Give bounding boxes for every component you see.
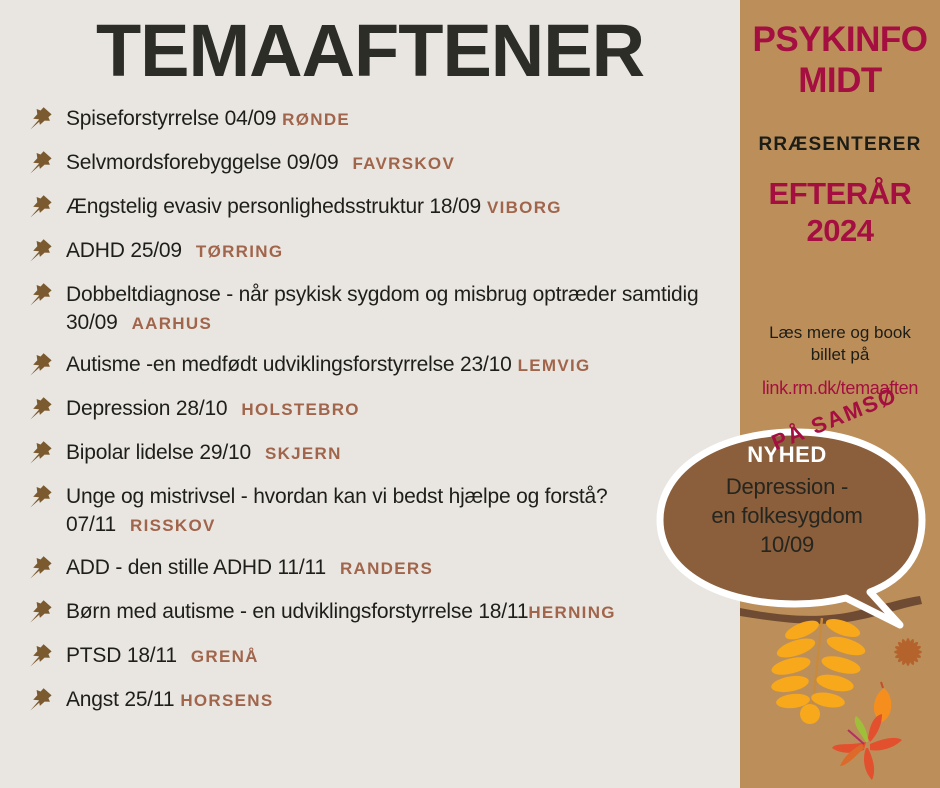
bubble-line-1: Depression - (672, 472, 902, 501)
event-title: Depression 28/10 (66, 397, 227, 420)
event-title: Ængstelig evasiv personlighedsstruktur 1… (66, 195, 481, 218)
event-row[interactable]: ADHD 25/09TØRRING (0, 237, 760, 267)
pushpin-icon (28, 686, 54, 712)
event-city: GRENÅ (191, 647, 259, 666)
event-row[interactable]: Ængstelig evasiv personlighedsstruktur 1… (0, 193, 760, 223)
pushpin-icon (28, 149, 54, 175)
event-row[interactable]: Autisme -en medfødt udviklingsforstyrrel… (0, 351, 760, 381)
event-city: HERNING (528, 603, 616, 622)
bubble-line-2: en folkesygdom (672, 501, 902, 530)
event-city: FAVRSKOV (352, 154, 455, 173)
event-title: Selvmordsforebyggelse 09/09 (66, 151, 338, 174)
event-title: Angst 25/11 (66, 688, 174, 711)
event-city: VIBORG (487, 198, 562, 217)
event-row[interactable]: ADD - den stille ADHD 11/11RANDERS (0, 554, 760, 584)
season-line-1: EFTERÅR (740, 178, 940, 211)
booking-info: Læs mere og book billet på (744, 322, 936, 367)
pushpin-icon (28, 237, 54, 263)
page-title: TEMAAFTENER (0, 8, 740, 93)
event-city: HOLSTEBRO (241, 400, 359, 419)
event-title: Bipolar lidelse 29/10 (66, 441, 251, 464)
event-city: RØNDE (282, 110, 350, 129)
pushpin-icon (28, 351, 54, 377)
pushpin-icon (28, 642, 54, 668)
star-anise-icon (894, 638, 922, 666)
event-city: RANDERS (340, 559, 433, 578)
event-city: SKJERN (265, 444, 342, 463)
pushpin-icon (28, 281, 54, 307)
event-row[interactable]: Angst 25/11HORSENS (0, 686, 760, 716)
pushpin-icon (28, 598, 54, 624)
event-title: Autisme -en medfødt udviklingsforstyrrel… (66, 353, 512, 376)
event-row[interactable]: Unge og mistrivsel - hvordan kan vi beds… (0, 483, 760, 539)
pushpin-icon (28, 395, 54, 421)
event-title: PTSD 18/11 (66, 644, 177, 667)
pushpin-icon (28, 483, 54, 509)
event-title: ADD - den stille ADHD 11/11 (66, 556, 326, 579)
pushpin-icon (28, 105, 54, 131)
brand-line-1: PSYKINFO (740, 22, 940, 59)
event-row[interactable]: Selvmordsforebyggelse 09/09FAVRSKOV (0, 149, 760, 179)
news-speech-bubble: NYHED Depression - en folkesygdom 10/09 (650, 420, 940, 640)
bubble-line-3: 10/09 (672, 530, 902, 559)
pushpin-icon (28, 554, 54, 580)
pushpin-icon (28, 439, 54, 465)
event-row[interactable]: Spiseforstyrrelse 04/09RØNDE (0, 105, 760, 135)
event-title: Børn med autisme - en udviklingsforstyrr… (66, 600, 528, 623)
event-title: ADHD 25/09 (66, 239, 182, 262)
presents-label: RRÆSENTERER (740, 134, 940, 156)
event-title: Spiseforstyrrelse 04/09 (66, 107, 276, 130)
booking-info-line-1: Læs mere og book (744, 322, 936, 344)
event-row[interactable]: PTSD 18/11GRENÅ (0, 642, 760, 672)
red-maple-leaf-icon (832, 714, 902, 780)
event-city: LEMVIG (518, 356, 591, 375)
season-line-2: 2024 (740, 215, 940, 248)
event-city: TØRRING (196, 242, 283, 261)
poster-canvas: PSYKINFO MIDT RRÆSENTERER EFTERÅR 2024 L… (0, 0, 940, 788)
event-row[interactable]: Depression 28/10HOLSTEBRO (0, 395, 760, 425)
pushpin-icon (28, 193, 54, 219)
brand-line-2: MIDT (740, 63, 940, 100)
event-row[interactable]: Børn med autisme - en udviklingsforstyrr… (0, 598, 760, 628)
event-row[interactable]: Dobbeltdiagnose - når psykisk sygdom og … (0, 281, 760, 337)
event-city: HORSENS (180, 691, 273, 710)
event-city: AARHUS (132, 314, 213, 333)
event-list: Spiseforstyrrelse 04/09RØNDESelvmordsfor… (0, 105, 760, 730)
bubble-content: NYHED Depression - en folkesygdom 10/09 (672, 442, 902, 559)
event-city: RISSKOV (130, 516, 216, 535)
event-row[interactable]: Bipolar lidelse 29/10SKJERN (0, 439, 760, 469)
small-orange-leaf-icon (874, 682, 891, 722)
booking-link[interactable]: link.rm.dk/temaaften (740, 378, 940, 399)
booking-info-line-2: billet på (744, 344, 936, 366)
